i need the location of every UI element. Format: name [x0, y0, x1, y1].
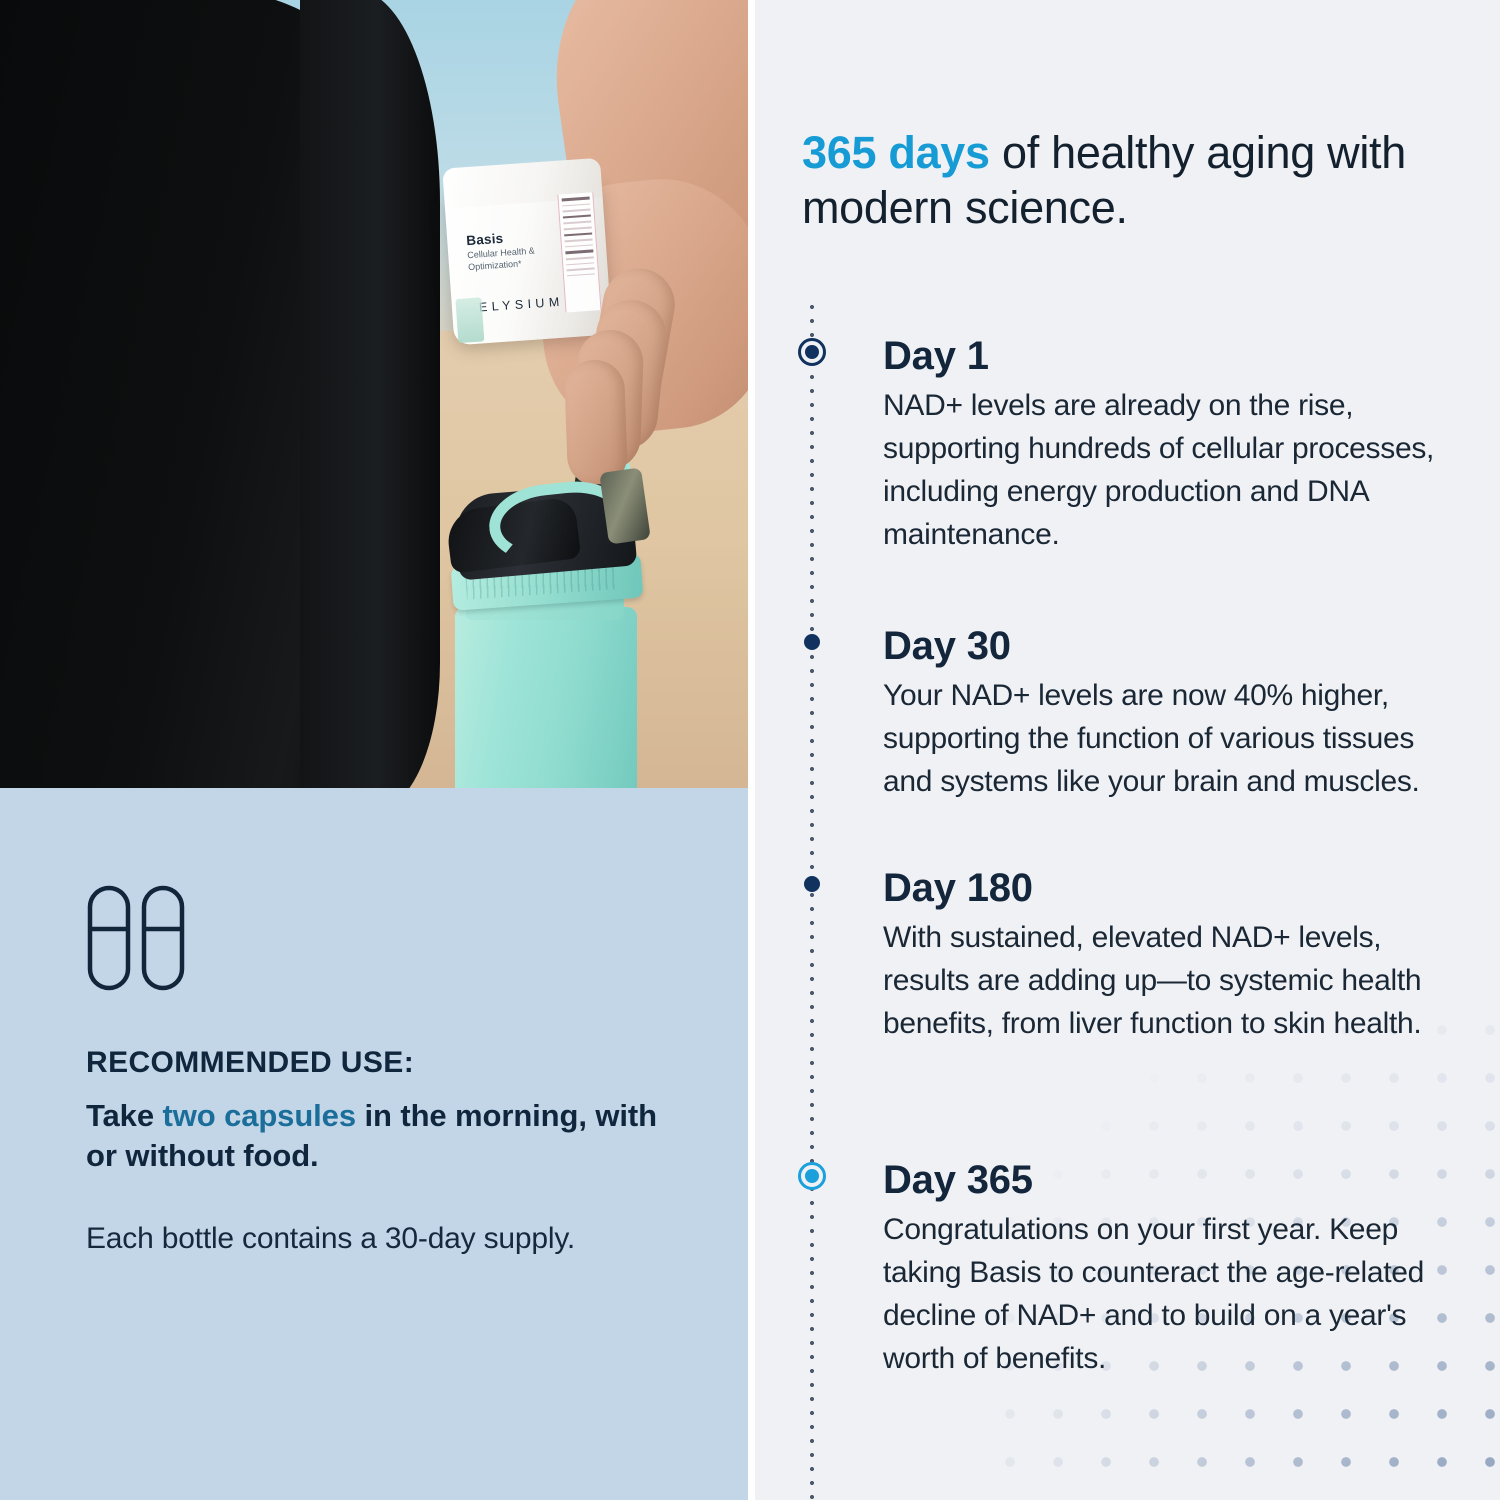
two-capsules-icon [86, 884, 186, 992]
timeline-text-day-30: Your NAD+ levels are now 40% higher, sup… [883, 674, 1443, 803]
timeline-text-day-180: With sustained, elevated NAD+ levels, re… [883, 916, 1443, 1045]
recommended-use-body: Take two capsules in the morning, with o… [86, 1096, 686, 1176]
infographic-page: Basis Cellular Health & Optimization* EL… [0, 0, 1500, 1500]
right-column: 365 days of healthy aging with modern sc… [755, 0, 1500, 1500]
timeline-title-day-1: Day 1 [883, 334, 989, 379]
jar-title: Basis [466, 231, 504, 249]
jar-subtitle: Cellular Health & Optimization* [467, 243, 554, 273]
timeline-title-day-365: Day 365 [883, 1158, 1033, 1203]
finger-4 [564, 359, 628, 487]
timeline: Day 1 NAD+ levels are already on the ris… [755, 0, 1500, 1500]
timeline-marker-day-1 [798, 338, 826, 366]
rec-body-pre: Take [86, 1098, 162, 1133]
rec-body-highlight: two capsules [162, 1098, 355, 1133]
lifestyle-photo: Basis Cellular Health & Optimization* EL… [0, 0, 748, 788]
wetsuit-leg-shadow [300, 0, 440, 788]
timeline-text-day-365: Congratulations on your first year. Keep… [883, 1208, 1443, 1380]
jar-side-label [455, 297, 484, 343]
jar-brand: ELYSIUM [479, 295, 565, 315]
supply-note: Each bottle contains a 30-day supply. [86, 1220, 688, 1258]
basis-supplement-jar: Basis Cellular Health & Optimization* EL… [444, 180, 612, 346]
timeline-text-day-1: NAD+ levels are already on the rise, sup… [883, 384, 1443, 556]
timeline-marker-day-30 [804, 634, 820, 650]
timeline-title-day-180: Day 180 [883, 866, 1033, 911]
timeline-marker-day-180 [804, 876, 820, 892]
timeline-dotted-line [810, 300, 814, 1500]
water-bottle-body [455, 607, 637, 788]
timeline-title-day-30: Day 30 [883, 624, 1011, 669]
left-column: Basis Cellular Health & Optimization* EL… [0, 0, 748, 1500]
recommended-use-heading: RECOMMENDED USE: [86, 1046, 688, 1080]
recommended-use-panel: RECOMMENDED USE: Take two capsules in th… [0, 788, 748, 1500]
supplement-facts-panel [557, 192, 601, 312]
timeline-marker-day-365 [798, 1162, 826, 1190]
